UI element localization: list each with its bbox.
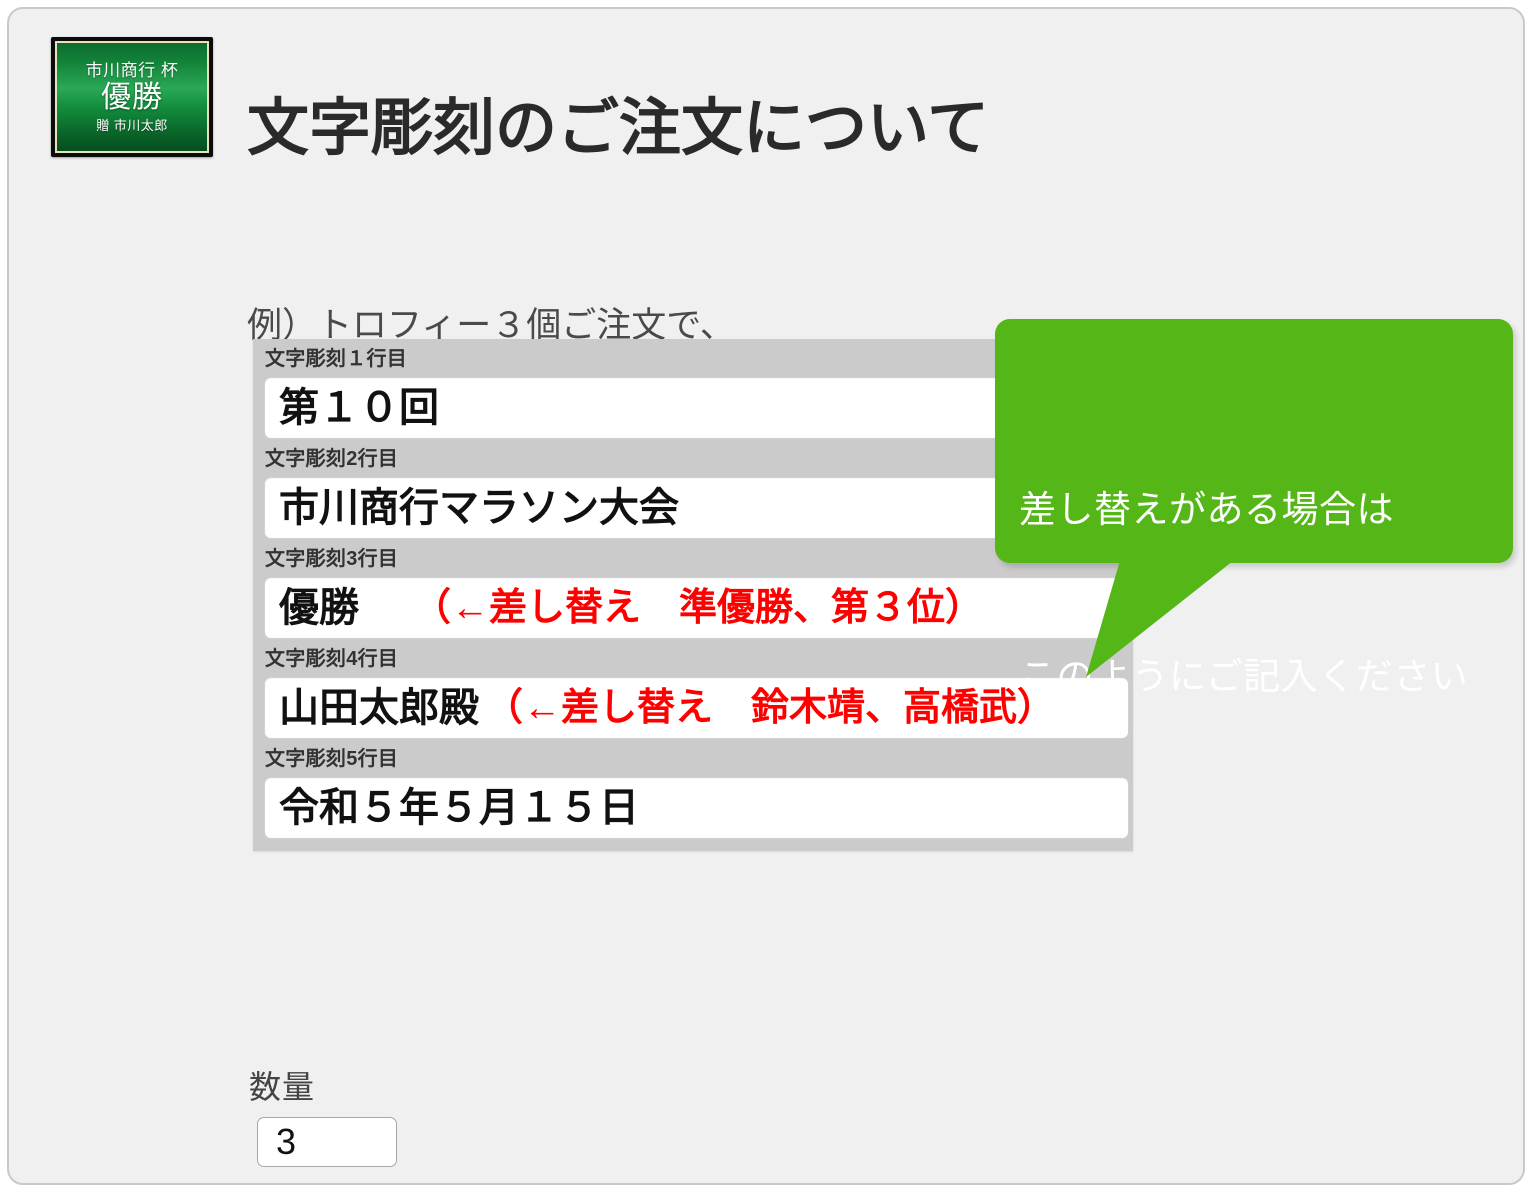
page-card: 市川商行 杯 優勝 贈 市川太郎 文字彫刻のご注文について 例）トロフィー３個ご… [7,7,1525,1185]
quantity-label: 数量 [249,1071,315,1103]
engraving-label-4: 文字彫刻4行目 [253,639,1133,677]
engraving-label-5: 文字彫刻5行目 [253,739,1133,777]
engraving-row-5: 文字彫刻5行目 令和５年５月１５日 [253,739,1133,839]
plaque-line-3: 贈 市川太郎 [96,119,168,132]
quantity-input[interactable]: 3 [257,1117,397,1167]
engraving-value-1: 第１０回 [279,388,439,428]
callout-line-1: 差し替えがある場合は [1019,482,1468,538]
plaque-line-1: 市川商行 杯 [86,62,179,79]
engraving-input-5[interactable]: 令和５年５月１５日 [264,777,1129,839]
plaque-line-2: 優勝 [101,82,163,114]
instruction-callout: 差し替えがある場合は このようにご記入ください [995,319,1513,563]
engraving-value-3: 優勝 [279,588,359,628]
quantity-value: 3 [276,1124,296,1160]
engraving-substitute-note-4: （←差し替え 鈴木靖、高橋武） [485,689,1055,727]
engraving-value-5: 令和５年５月１５日 [279,788,639,828]
engraving-input-4[interactable]: 山田太郎殿 （←差し替え 鈴木靖、高橋武） [264,677,1129,739]
plaque-inner-face: 市川商行 杯 優勝 贈 市川太郎 [55,41,209,153]
engraving-input-3[interactable]: 優勝 （←差し替え 準優勝、第３位） [264,577,1129,639]
engraving-row-4: 文字彫刻4行目 山田太郎殿 （←差し替え 鈴木靖、高橋武） [253,639,1133,739]
engraving-order-instruction-page: 市川商行 杯 優勝 贈 市川太郎 文字彫刻のご注文について 例）トロフィー３個ご… [0,0,1540,1200]
page-title: 文字彫刻のご注文について [247,98,989,160]
callout-tail-pointer [1083,557,1263,683]
trophy-plaque-image: 市川商行 杯 優勝 贈 市川太郎 [51,37,213,157]
engraving-value-2: 市川商行マラソン大会 [279,488,679,528]
engraving-substitute-note-3: （←差し替え 準優勝、第３位） [413,589,983,627]
engraving-value-4: 山田太郎殿 [279,688,479,728]
